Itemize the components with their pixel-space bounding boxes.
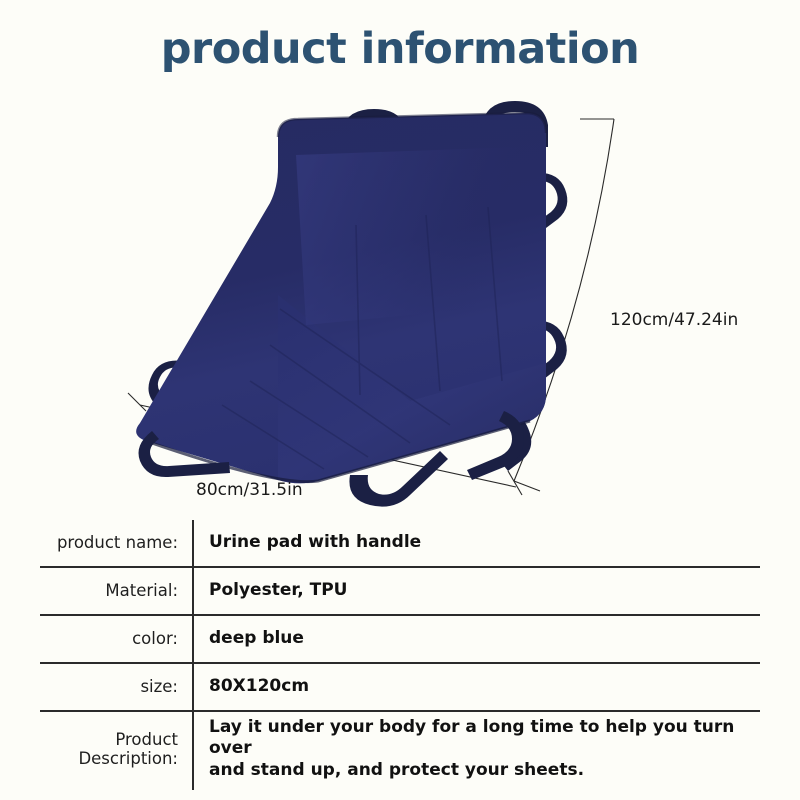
table-row-color: color: deep blue bbox=[40, 616, 760, 664]
row-value-material: Polyester, TPU bbox=[192, 580, 760, 601]
row-label-product-name: product name: bbox=[40, 533, 192, 552]
product-information-page: product information bbox=[0, 0, 800, 800]
dimension-height-label: 120cm/47.24in bbox=[610, 310, 738, 330]
pad-body bbox=[136, 113, 546, 483]
page-title: product information bbox=[0, 24, 800, 74]
row-label-product-description: Product Description: bbox=[40, 730, 192, 769]
row-value-product-description: Lay it under your body for a long time t… bbox=[192, 717, 760, 781]
row-label-description-line1: Product bbox=[115, 730, 178, 749]
description-line2: and stand up, and protect your sheets. bbox=[209, 760, 760, 781]
table-row-material: Material: Polyester, TPU bbox=[40, 568, 760, 616]
row-value-color: deep blue bbox=[192, 628, 760, 649]
row-value-size: 80X120cm bbox=[192, 676, 760, 697]
row-label-description-line2: Description: bbox=[78, 749, 178, 768]
row-label-color: color: bbox=[40, 629, 192, 648]
product-image bbox=[110, 95, 690, 515]
dimension-width-label: 80cm/31.5in bbox=[196, 480, 303, 500]
table-row-size: size: 80X120cm bbox=[40, 664, 760, 712]
pad-sheen bbox=[296, 147, 520, 325]
product-illustration-svg bbox=[110, 95, 690, 515]
row-value-product-name: Urine pad with handle bbox=[192, 532, 760, 553]
description-line1: Lay it under your body for a long time t… bbox=[209, 717, 760, 760]
table-row-product-name: product name: Urine pad with handle bbox=[40, 520, 760, 568]
dim-width-tick-left bbox=[128, 393, 146, 411]
table-vertical-divider bbox=[192, 520, 194, 790]
specification-table: product name: Urine pad with handle Mate… bbox=[40, 520, 760, 786]
dim-height-tick-bottom bbox=[514, 481, 540, 491]
row-label-size: size: bbox=[40, 677, 192, 696]
row-label-material: Material: bbox=[40, 581, 192, 600]
table-row-product-description: Product Description: Lay it under your b… bbox=[40, 712, 760, 786]
